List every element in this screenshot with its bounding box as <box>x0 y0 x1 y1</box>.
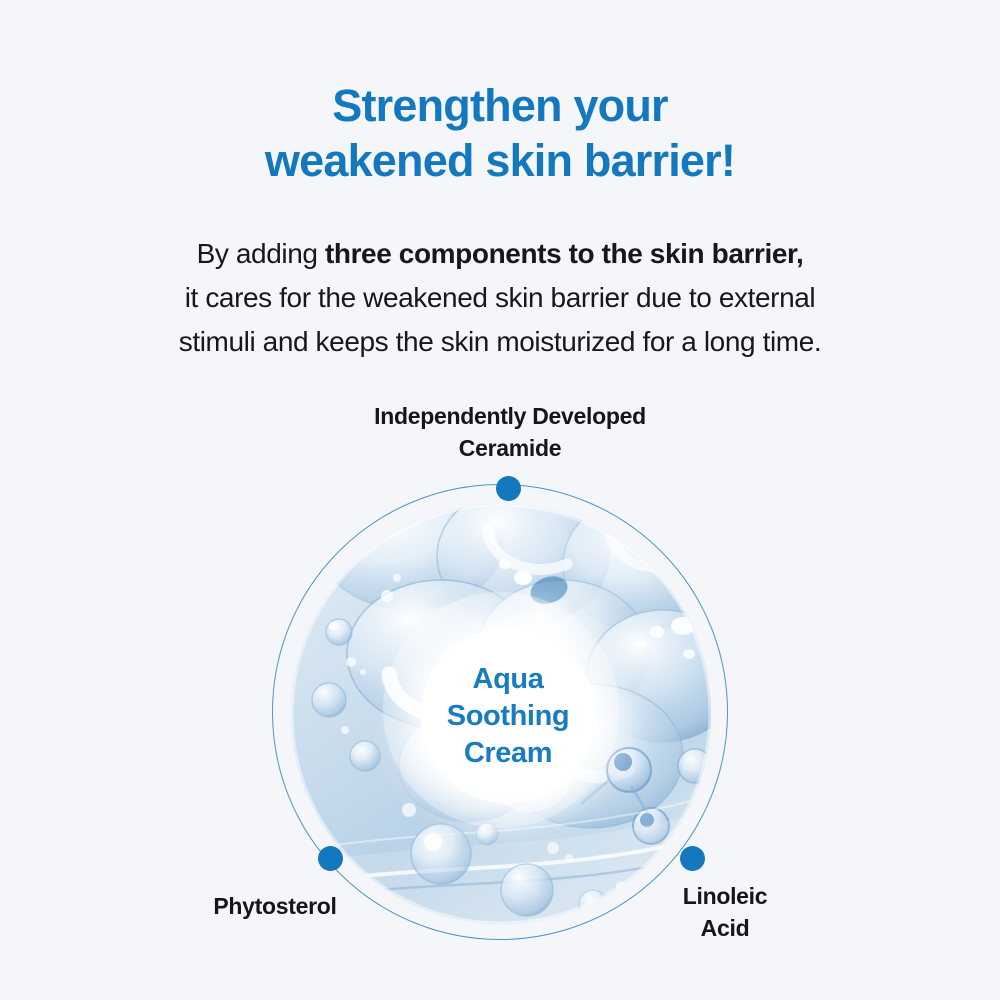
node-label-linoleic-acid-line-1: Linoleic <box>600 880 850 912</box>
node-label-ceramide-line-2: Ceramide <box>310 432 710 464</box>
subtitle-line-1-prefix: By adding <box>197 238 325 269</box>
node-label-ceramide-line-1: Independently Developed <box>310 400 710 432</box>
subtitle-line-2: it cares for the weakened skin barrier d… <box>0 276 1000 320</box>
node-label-phytosterol-line-1: Phytosterol <box>130 890 420 922</box>
node-label-ceramide: Independently Developed Ceramide <box>310 400 710 464</box>
subtitle-line-3: stimuli and keeps the skin moisturized f… <box>0 320 1000 364</box>
page-headline: Strengthen your weakened skin barrier! <box>0 78 1000 188</box>
node-label-phytosterol: Phytosterol <box>130 890 420 922</box>
headline-line-2: weakened skin barrier! <box>0 133 1000 188</box>
product-name-line-1: Aqua <box>473 661 544 698</box>
product-name-badge: Aqua Soothing Cream <box>420 628 596 804</box>
node-dot-ceramide <box>496 476 521 501</box>
node-dot-linoleic-acid <box>680 846 705 871</box>
node-label-linoleic-acid-line-2: Acid <box>600 912 850 944</box>
page-subtitle: By adding three components to the skin b… <box>0 232 1000 364</box>
headline-line-1: Strengthen your <box>0 78 1000 133</box>
node-label-linoleic-acid: Linoleic Acid <box>600 880 850 944</box>
node-dot-phytosterol <box>318 846 343 871</box>
ingredient-diagram: Aqua Soothing Cream Independently Develo… <box>0 380 1000 1000</box>
subtitle-line-1-emphasis: three components to the skin barrier, <box>325 238 803 269</box>
product-name-line-3: Cream <box>464 735 552 772</box>
product-name-line-2: Soothing <box>447 698 569 735</box>
subtitle-line-1: By adding three components to the skin b… <box>0 232 1000 276</box>
